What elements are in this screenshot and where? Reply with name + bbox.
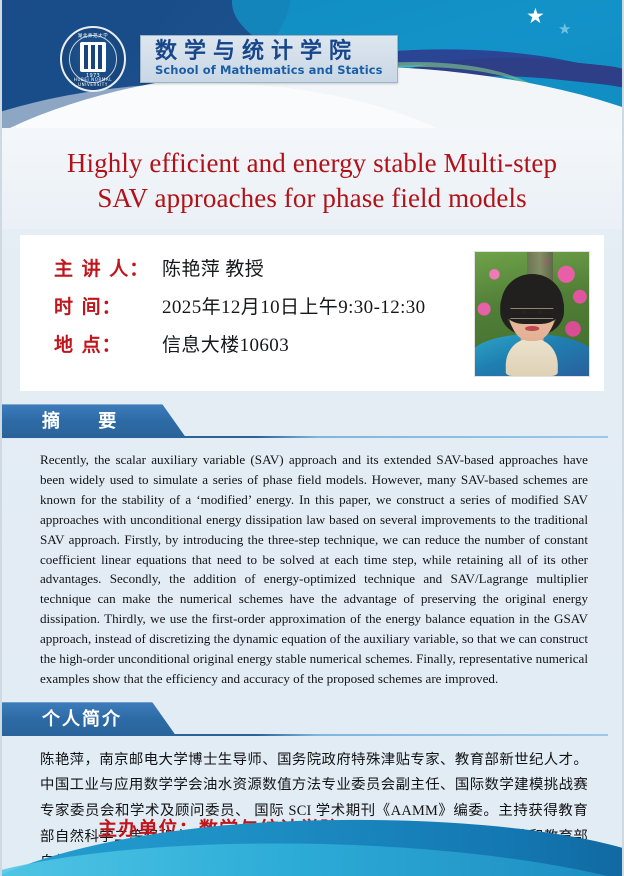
biography-banner: 个人简介: [2, 702, 176, 736]
time-value: 2025年12月10日上午9:30-12:30: [162, 292, 426, 319]
star-icon: ★: [526, 6, 545, 27]
seal-arc-bottom-text: HUBEI NORMAL UNIVERSITY: [62, 77, 124, 87]
photo-person-glasses: [510, 308, 553, 319]
star-icon-faint: ★: [558, 22, 571, 37]
abstract-section: 摘 要 Recently, the scalar auxiliary varia…: [2, 404, 622, 689]
speaker-details: 主 讲 人： 陈艳萍 教授 时 间： 2025年12月10日上午9:30-12:…: [20, 251, 474, 377]
speaker-photo-column: [474, 251, 604, 377]
speaker-row: 主 讲 人： 陈艳萍 教授: [54, 254, 474, 281]
biography-banner-row: 个人简介: [2, 702, 622, 736]
talk-title-line-2: SAV approaches for phase field models: [28, 181, 596, 216]
abstract-text: Recently, the scalar auxiliary variable …: [40, 450, 588, 689]
time-row: 时 间： 2025年12月10日上午9:30-12:30: [54, 292, 474, 319]
biography-banner-label: 个人简介: [42, 709, 122, 730]
institution-name-cn: 数学与统计学院: [155, 40, 383, 65]
talk-title-block: Highly efficient and energy stable Multi…: [2, 128, 622, 229]
abstract-banner-row: 摘 要: [2, 404, 622, 438]
speaker-name: 陈艳萍 教授: [162, 254, 264, 281]
seal-emblem: [80, 42, 106, 72]
institution-name-en: School of Mathematics and Statics: [155, 64, 383, 77]
location-row: 地 点： 信息大楼10603: [54, 330, 474, 357]
poster-footer: 主办单位：数学与统计学院: [2, 810, 622, 876]
speaker-portrait-photo: [474, 251, 590, 377]
location-label: 地 点：: [54, 330, 162, 357]
speaker-info-card: 主 讲 人： 陈艳萍 教授 时 间： 2025年12月10日上午9:30-12:…: [20, 235, 604, 391]
biography-banner-rule: [2, 734, 608, 736]
abstract-body: Recently, the scalar auxiliary variable …: [40, 450, 588, 689]
abstract-banner-label: 摘 要: [42, 411, 132, 432]
abstract-banner-rule: [2, 436, 608, 438]
location-value: 信息大楼10603: [162, 330, 289, 357]
university-seal-icon: 湖北师范大学 1973 HUBEI NORMAL UNIVERSITY: [60, 26, 126, 92]
poster-header: ★ ★ 湖北师范大学 1973 HUBEI NORMAL UNIVERSITY …: [2, 0, 622, 128]
talk-title-line-1: Highly efficient and energy stable Multi…: [28, 146, 596, 181]
speaker-label: 主 讲 人：: [54, 254, 162, 281]
seal-arc-top-text: 湖北师范大学: [62, 33, 124, 39]
time-label: 时 间：: [54, 292, 162, 319]
seminar-poster: ★ ★ 湖北师范大学 1973 HUBEI NORMAL UNIVERSITY …: [0, 0, 624, 876]
institution-nameplate: 数学与统计学院 School of Mathematics and Static…: [140, 35, 398, 84]
university-logo: 湖北师范大学 1973 HUBEI NORMAL UNIVERSITY 数学与统…: [60, 26, 398, 92]
abstract-banner: 摘 要: [2, 404, 186, 438]
